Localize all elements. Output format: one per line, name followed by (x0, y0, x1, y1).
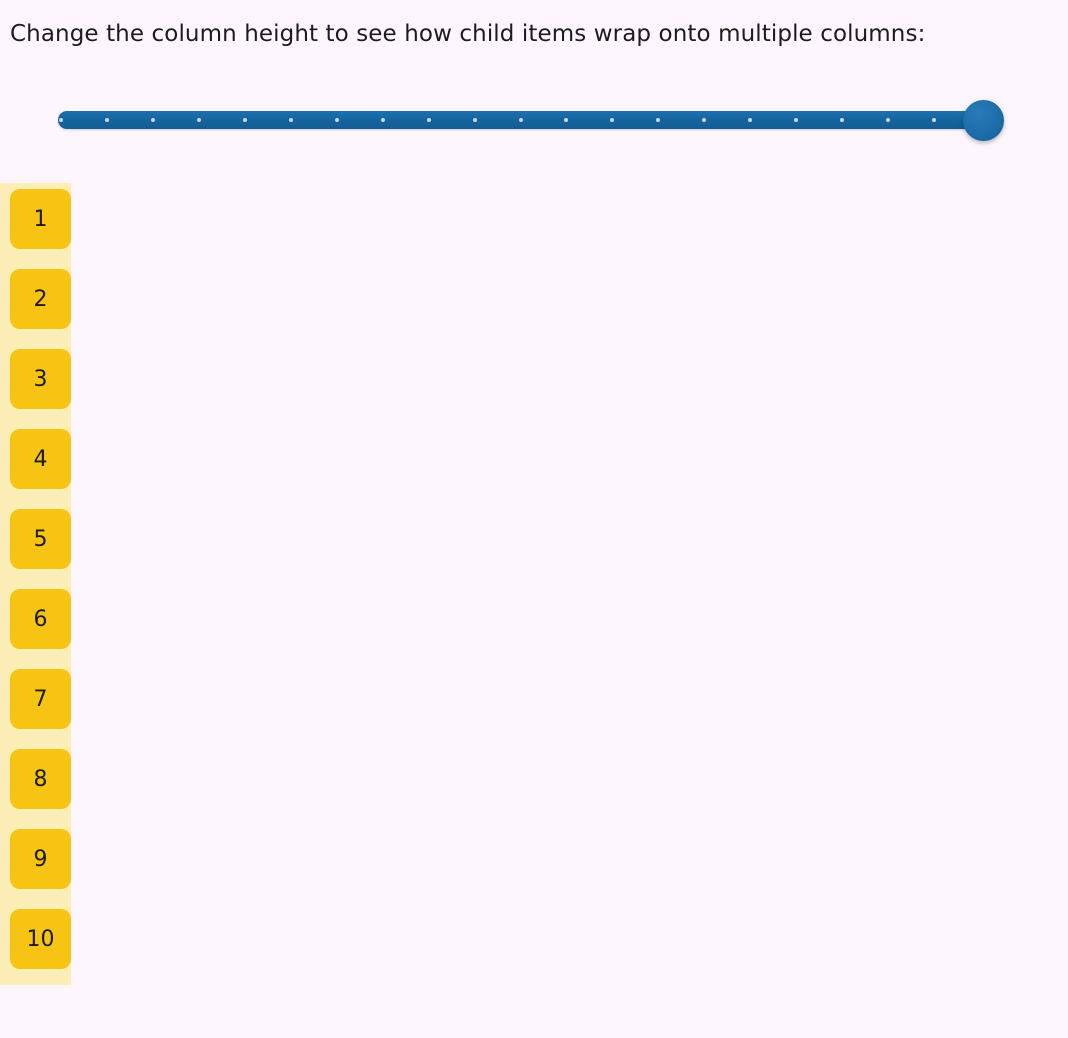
column-item: 2 (10, 269, 71, 329)
slider-tick (289, 118, 293, 122)
slider-thumb[interactable] (963, 100, 1004, 141)
column-item: 9 (10, 829, 71, 889)
slider-tick (564, 118, 568, 122)
slider-tick (105, 118, 109, 122)
column-item: 8 (10, 749, 71, 809)
slider-tick (335, 118, 339, 122)
column-item: 7 (10, 669, 71, 729)
wrapping-column-container: 12345678910 (0, 183, 71, 985)
page-heading: Change the column height to see how chil… (10, 17, 925, 51)
slider-tick (840, 118, 844, 122)
slider-tick (748, 118, 752, 122)
slider-tick (473, 118, 477, 122)
slider-tick (59, 118, 63, 122)
column-item: 4 (10, 429, 71, 489)
column-height-slider[interactable] (58, 100, 983, 142)
slider-tick (519, 118, 523, 122)
column-item: 5 (10, 509, 71, 569)
slider-tick (610, 118, 614, 122)
column-item: 3 (10, 349, 71, 409)
column-item: 6 (10, 589, 71, 649)
slider-tick (886, 118, 890, 122)
slider-tick (794, 118, 798, 122)
slider-tick (702, 118, 706, 122)
column-item: 1 (10, 189, 71, 249)
slider-tick-marks (58, 111, 983, 129)
slider-tick (932, 118, 936, 122)
slider-tick (151, 118, 155, 122)
slider-tick (197, 118, 201, 122)
slider-tick (243, 118, 247, 122)
slider-tick (381, 118, 385, 122)
column-item: 10 (10, 909, 71, 969)
slider-tick (427, 118, 431, 122)
slider-tick (656, 118, 660, 122)
